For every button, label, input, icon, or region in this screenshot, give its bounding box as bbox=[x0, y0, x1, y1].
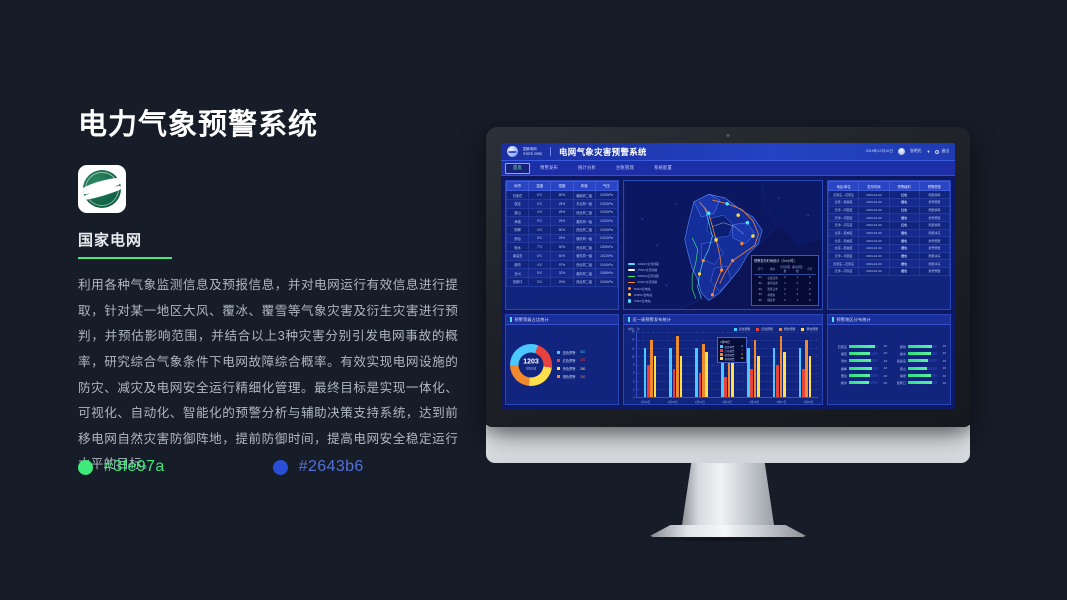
list-item[interactable]: 石家庄48 bbox=[832, 344, 887, 349]
bar bbox=[695, 348, 698, 397]
bar bbox=[702, 344, 705, 397]
table-cell: 保定市 bbox=[766, 297, 778, 303]
bar-plot: 0246810121416 3月05日 蓝色预警12红色预警7橙色预警14黄色预… bbox=[628, 332, 818, 398]
map-overlay-table: 预警发布时间统计（7m小时） 序号地市大风预警数覆冰预警数合计 01石家庄市21… bbox=[751, 255, 819, 306]
table-cell: 红色 bbox=[889, 191, 919, 199]
project-description: 利用各种气象监测信息及预报信息，并对电网运行有效信息进行提取，针对某一地区大风、… bbox=[78, 273, 458, 478]
legend-line-icon bbox=[628, 263, 635, 264]
table-row[interactable]: 唐山4℃49%西北风二级1015hPa bbox=[507, 208, 618, 217]
bar-group[interactable] bbox=[695, 332, 708, 397]
bar bbox=[680, 356, 683, 397]
table-row[interactable]: 北京—西城区2019-10-03橙色暴雪预警 bbox=[829, 245, 950, 253]
table-cell: 2019-10-03 bbox=[859, 245, 889, 253]
region-name: 衡水 bbox=[832, 380, 847, 385]
swatch-dot-icon bbox=[273, 460, 288, 475]
legend-line-icon bbox=[628, 282, 635, 283]
legend-item[interactable]: 蓝色预警310 bbox=[557, 350, 585, 355]
table-cell: 暴雪预警 bbox=[919, 198, 949, 206]
region-name: 廊坊 bbox=[891, 344, 906, 349]
column-header: 地区/单位 bbox=[829, 182, 859, 191]
table-cell: 2019-10-03 bbox=[859, 260, 889, 268]
user-name[interactable]: 张明光 bbox=[910, 149, 921, 154]
table-cell: 橙色 bbox=[889, 252, 919, 260]
grid-logo-text: 国家电网 STATE GRID bbox=[523, 147, 542, 155]
table-cell: 20% bbox=[551, 278, 573, 287]
table-cell: 1 bbox=[791, 297, 803, 303]
table-cell: 橙色 bbox=[889, 245, 919, 253]
list-item[interactable]: 衡水48 bbox=[891, 351, 946, 356]
table-row[interactable]: 邯郸4℃60%西北风二级1013hPa bbox=[507, 225, 618, 234]
avatar[interactable] bbox=[898, 148, 905, 155]
state-grid-logo-icon bbox=[78, 165, 126, 213]
x-tick-label: 3月07日 bbox=[776, 400, 786, 404]
legend-item: 500kV交流线路 bbox=[628, 280, 659, 284]
donut-total-value: 1203 bbox=[523, 359, 539, 366]
progress-bar bbox=[849, 345, 878, 348]
bar bbox=[754, 340, 757, 397]
table-row[interactable]: 秦皇岛6℃60%偏东风一级1011hPa bbox=[507, 252, 618, 261]
table-row[interactable]: 天津—河东区2019-10-03红色局部暴雨 bbox=[829, 221, 950, 229]
progress-bar bbox=[908, 345, 937, 348]
tooltip-swatch-icon bbox=[720, 357, 722, 359]
tooltip-swatch-icon bbox=[720, 353, 722, 355]
table-cell: 60% bbox=[551, 225, 573, 234]
table-row[interactable]: 天津—河西区2019-10-03橙色局部冰冻 bbox=[829, 252, 950, 260]
monitor-chin bbox=[486, 425, 970, 463]
donut-total-label: 预警总数 bbox=[526, 367, 536, 371]
table-cell: 60% bbox=[551, 191, 573, 200]
table-row[interactable]: 石家庄6℃60%偏南风二级1013hPa bbox=[507, 191, 618, 200]
table-cell: 1011hPa bbox=[595, 252, 617, 261]
legend-swatch-icon bbox=[734, 328, 737, 331]
table-cell: 60% bbox=[551, 252, 573, 261]
table-cell: 邢台 bbox=[507, 234, 529, 243]
dashboard-title: 电网气象灾害预警系统 bbox=[559, 146, 647, 158]
table-cell: 7℃ bbox=[529, 243, 551, 252]
table-row[interactable]: 邢台8℃25%偏东风一级1012hPa bbox=[507, 234, 618, 243]
list-item[interactable]: 承德48 bbox=[891, 373, 946, 378]
region-name: 承德 bbox=[891, 373, 906, 378]
table-cell: 4℃ bbox=[529, 225, 551, 234]
table-cell: 西北风二级 bbox=[573, 260, 595, 269]
panel-title: 预警等级占比统计 bbox=[506, 315, 618, 325]
legend-swatch-icon bbox=[557, 367, 560, 370]
bar bbox=[721, 360, 724, 397]
progress-bar bbox=[908, 381, 937, 384]
monitor-stand-base bbox=[648, 525, 808, 537]
legend-item[interactable]: 黄色预警250 bbox=[557, 366, 585, 371]
region-value: 48 bbox=[939, 359, 946, 363]
table-cell: 2019-10-03 bbox=[859, 237, 889, 245]
legend-item[interactable]: 黄色预警 bbox=[801, 327, 818, 331]
table-header-row: 地区/单位发布时间预警级别预警类型 bbox=[829, 182, 950, 191]
dashboard-screen: 国家电网 STATE GRID 电网气象灾害预警系统 2019年12月10日 张… bbox=[501, 143, 955, 409]
y-tick-label: 12 bbox=[632, 347, 635, 350]
table-cell: 局部冰冻 bbox=[919, 260, 949, 268]
legend-item[interactable]: 红色预警 bbox=[756, 327, 773, 331]
table-cell: 橙色 bbox=[889, 268, 919, 276]
bar bbox=[669, 348, 672, 397]
donut-center: 1203 预警总数 bbox=[519, 352, 544, 377]
map-legend: 1000kV交流线路 750kV交流线路 ±800kV直流线路 500kV交流线… bbox=[628, 262, 659, 303]
region-name: 保定 bbox=[832, 351, 847, 356]
bar bbox=[773, 348, 776, 397]
table-cell: 西北风二级 bbox=[573, 208, 595, 217]
legend-item: ±800kV直流线路 bbox=[628, 274, 659, 278]
legend-value: 220 bbox=[580, 358, 585, 362]
table-cell: 廊坊 bbox=[507, 260, 529, 269]
bar bbox=[750, 369, 753, 397]
main-nav: 首页 预警发布 统计分析 台账管理 系统配置 bbox=[501, 161, 955, 176]
tooltip-series-name: 黄色预警 bbox=[725, 357, 735, 361]
bar bbox=[809, 356, 812, 397]
tooltip-series-value: 12 bbox=[737, 345, 744, 348]
header-right-cluster: 2019年12月10日 张明光 ▼ 退出 bbox=[866, 148, 949, 155]
table-cell: 暴雪预警 bbox=[919, 268, 949, 276]
poster-canvas: 电力气象预警系统 国家电网 利用各种气象监测信息及预报信息，并对电网运行有效信息… bbox=[0, 0, 1067, 600]
chevron-down-icon[interactable]: ▼ bbox=[926, 149, 930, 154]
x-tick-label: 3月05日 bbox=[722, 400, 732, 404]
legend-line-icon bbox=[628, 276, 635, 277]
legend-dot-icon bbox=[628, 299, 631, 302]
region-value: 48 bbox=[880, 359, 887, 363]
legend-swatch-icon bbox=[801, 328, 804, 331]
legend-item[interactable]: 蓝色预警 bbox=[734, 327, 751, 331]
table-cell: 05 bbox=[754, 297, 766, 303]
table-cell: 东北风一级 bbox=[573, 199, 595, 208]
y-tick-label: 16 bbox=[632, 331, 635, 334]
color-swatch-primary: #3fe97a bbox=[78, 458, 165, 476]
region-value: 48 bbox=[939, 351, 946, 355]
legend-value: 310 bbox=[580, 350, 585, 354]
table-cell: 橙色 bbox=[889, 198, 919, 206]
table-cell: 局部暴雨 bbox=[919, 191, 949, 199]
legend-item: 1000kV交流线路 bbox=[628, 262, 659, 266]
swatch-dot-icon bbox=[78, 460, 93, 475]
logout-button[interactable]: 退出 bbox=[935, 149, 949, 154]
table-cell: 1016hPa bbox=[595, 278, 617, 287]
table-row[interactable]: 05保定市213 bbox=[754, 297, 816, 303]
y-tick-label: 4 bbox=[633, 380, 634, 383]
table-cell: 偏东风一级 bbox=[573, 234, 595, 243]
region-name: 张家口 bbox=[891, 380, 906, 385]
table-cell: 25% bbox=[551, 199, 573, 208]
bar-group[interactable] bbox=[799, 332, 812, 397]
legend-swatch-icon bbox=[557, 351, 560, 354]
table-cell: 天津—河西区 bbox=[829, 206, 859, 214]
chart-tooltip: 3月05日 蓝色预警12红色预警7橙色预警14黄色预警10 bbox=[717, 337, 747, 363]
region-name: 邢台 bbox=[832, 373, 847, 378]
list-item[interactable]: 秦皇岛48 bbox=[891, 358, 946, 363]
table-cell: 9℃ bbox=[529, 217, 551, 226]
table-cell: 暴雪预警 bbox=[919, 245, 949, 253]
progress-bar bbox=[849, 367, 878, 370]
table-cell: 北京—西城区 bbox=[829, 237, 859, 245]
plot-area[interactable]: 3月05日 蓝色预警12红色预警7橙色预警14黄色预警10 bbox=[636, 332, 818, 398]
table-row[interactable]: 北京—西城区2019-10-03橙色局部冰冻 bbox=[829, 229, 950, 237]
legend-label: 黄色预警 bbox=[563, 366, 576, 371]
legend-label: 红色预警 bbox=[563, 358, 576, 363]
tooltip-swatch-icon bbox=[720, 345, 722, 347]
table-cell: 6℃ bbox=[529, 252, 551, 261]
table-cell: 保定 bbox=[507, 199, 529, 208]
legend-swatch-icon bbox=[756, 328, 759, 331]
legend-label: 橙色预警 bbox=[784, 327, 796, 331]
table-row[interactable]: 石家庄—石家庄2019-10-03橙色局部冰冻 bbox=[829, 260, 950, 268]
table-cell: 1009hPa bbox=[595, 243, 617, 252]
table-cell: 25% bbox=[551, 217, 573, 226]
tab-system-config[interactable]: 系统配置 bbox=[644, 163, 682, 174]
y-tick-label: 14 bbox=[632, 339, 635, 342]
tab-ledger[interactable]: 台账管理 bbox=[606, 163, 644, 174]
list-item[interactable]: 张家口48 bbox=[891, 380, 946, 385]
bar bbox=[776, 365, 779, 398]
alerts-table: 地区/单位发布时间预警级别预警类型 石家庄—石家庄2019-10-03红色局部暴… bbox=[828, 181, 950, 276]
legend-swatch-icon bbox=[557, 359, 560, 362]
legend-label: 红色预警 bbox=[761, 327, 773, 331]
bar bbox=[731, 360, 734, 397]
table-row[interactable]: 天津—河西区2019-10-03橙色暴雪预警 bbox=[829, 214, 950, 222]
table-cell: 唐山 bbox=[507, 208, 529, 217]
table-cell: 沧州 bbox=[507, 269, 529, 278]
table-cell: 暴雪预警 bbox=[919, 237, 949, 245]
table-cell: 邯郸 bbox=[507, 225, 529, 234]
legend-item: 750kV交流线路 bbox=[628, 268, 659, 272]
table-cell: 橙色 bbox=[889, 229, 919, 237]
table-row[interactable]: 廊坊4℃97%西北风二级1014hPa bbox=[507, 260, 618, 269]
dashboard-body: 地市温度湿度风速气压 石家庄6℃60%偏南风二级1013hPa保定5℃25%东北… bbox=[501, 176, 955, 409]
table-cell: 1010hPa bbox=[595, 217, 617, 226]
table-cell: 3℃ bbox=[529, 278, 551, 287]
table-cell: 秦皇岛 bbox=[507, 252, 529, 261]
table-header-row: 序号地市大风预警数覆冰预警数合计 bbox=[754, 264, 816, 274]
table-cell: 橙色 bbox=[889, 237, 919, 245]
dashboard-bottom-row: 预警等级占比统计 1203 预警总数 蓝色预警310红色预警220黄色预警250… bbox=[505, 314, 951, 405]
bar bbox=[650, 340, 653, 397]
table-cell: 西北风二级 bbox=[573, 225, 595, 234]
x-tick-label: 3月02日 bbox=[641, 400, 651, 404]
table-cell: 4℃ bbox=[529, 260, 551, 269]
table-cell: 偏东风一级 bbox=[573, 252, 595, 261]
list-item[interactable]: 沧州48 bbox=[832, 358, 887, 363]
legend-label: 橙色预警 bbox=[563, 374, 576, 379]
tab-statistics[interactable]: 统计分析 bbox=[568, 163, 606, 174]
bar bbox=[676, 336, 679, 397]
x-axis-labels: 3月02日3月03日3月04日3月05日3月06日3月07日3月08日 bbox=[632, 400, 822, 404]
progress-bar bbox=[908, 359, 937, 362]
table-cell: 1012hPa bbox=[595, 234, 617, 243]
list-item[interactable]: 唐山48 bbox=[891, 366, 946, 371]
table-cell: 局部暴雨 bbox=[919, 221, 949, 229]
tab-home[interactable]: 首页 bbox=[505, 163, 530, 174]
list-item[interactable]: 廊坊48 bbox=[891, 344, 946, 349]
page-title: 电力气象预警系统 bbox=[78, 108, 458, 143]
table-cell: 97% bbox=[551, 260, 573, 269]
progress-bar bbox=[908, 352, 937, 355]
donut-legend: 蓝色预警310红色预警220黄色预警250橙色预警240 bbox=[557, 350, 585, 379]
list-item[interactable]: 邯郸48 bbox=[832, 366, 887, 371]
table-row[interactable]: 天津—河东区2019-10-03橙色暴雪预警 bbox=[829, 268, 950, 276]
grid-map-panel[interactable]: 1000kV交流线路 750kV交流线路 ±800kV直流线路 500kV交流线… bbox=[623, 180, 823, 310]
table-cell: 橙色 bbox=[889, 214, 919, 222]
bar bbox=[654, 356, 657, 397]
list-item[interactable]: 衡水48 bbox=[832, 380, 887, 385]
color-swatch-secondary: #2643b6 bbox=[273, 458, 364, 476]
bar-group[interactable] bbox=[747, 332, 760, 397]
y-axis: 0246810121416 bbox=[628, 332, 636, 398]
table-cell: 1014hPa bbox=[595, 260, 617, 269]
table-cell: 局部冰冻 bbox=[919, 252, 949, 260]
legend-item[interactable]: 橙色预警 bbox=[779, 327, 796, 331]
swatch-hex-label: #2643b6 bbox=[299, 458, 364, 476]
donut-chart[interactable]: 1203 预警总数 bbox=[510, 344, 552, 386]
list-item[interactable]: 邢台48 bbox=[832, 373, 887, 378]
bar-group[interactable] bbox=[669, 332, 682, 397]
column-header: 湿度 bbox=[551, 182, 573, 191]
table-cell: 2019-10-03 bbox=[859, 198, 889, 206]
table-cell: 2 bbox=[779, 297, 791, 303]
bar bbox=[724, 377, 727, 397]
bar bbox=[780, 336, 783, 397]
region-name: 衡水 bbox=[891, 351, 906, 356]
table-cell: 衡水 bbox=[507, 243, 529, 252]
bar bbox=[802, 369, 805, 397]
table-row[interactable]: 北京—西城区2019-10-03橙色暴雪预警 bbox=[829, 198, 950, 206]
weather-table-panel: 地市温度湿度风速气压 石家庄6℃60%偏南风二级1013hPa保定5℃25%东北… bbox=[505, 180, 619, 310]
region-name: 邯郸 bbox=[832, 366, 847, 371]
region-value: 48 bbox=[939, 381, 946, 385]
table-cell: 2019-10-03 bbox=[859, 214, 889, 222]
brand-underline-divider bbox=[78, 257, 172, 260]
tooltip-title: 3月05日 bbox=[720, 340, 743, 344]
table-cell: 承德 bbox=[507, 217, 529, 226]
region-value: 48 bbox=[939, 344, 946, 348]
table-cell: 1008hPa bbox=[595, 269, 617, 278]
table-row[interactable]: 天津—河西区2019-10-03红色局部暴雨 bbox=[829, 206, 950, 214]
table-cell: 暴雪预警 bbox=[919, 214, 949, 222]
alert-level-donut-panel: 预警等级占比统计 1203 预警总数 蓝色预警310红色预警220黄色预警250… bbox=[505, 314, 619, 405]
monitor-mockup: 国家电网 STATE GRID 电网气象灾害预警系统 2019年12月10日 张… bbox=[486, 127, 970, 542]
region-name: 唐山 bbox=[891, 366, 906, 371]
bar bbox=[705, 352, 708, 397]
column-header: 地市 bbox=[507, 182, 529, 191]
table-cell: 8℃ bbox=[529, 234, 551, 243]
bar bbox=[805, 340, 808, 397]
legend-label: 蓝色预警 bbox=[739, 327, 751, 331]
table-row[interactable]: 沧州5℃32%偏东风二级1008hPa bbox=[507, 269, 618, 278]
x-tick-label: 3月06日 bbox=[749, 400, 759, 404]
table-row[interactable]: 张家口3℃20%西北风二级1016hPa bbox=[507, 278, 618, 287]
table-cell: 石家庄—石家庄 bbox=[829, 260, 859, 268]
header-date: 2019年12月10日 bbox=[866, 149, 893, 154]
table-cell: 西北风二级 bbox=[573, 278, 595, 287]
bar bbox=[783, 352, 786, 397]
left-info-column: 电力气象预警系统 国家电网 利用各种气象监测信息及预报信息，并对电网运行有效信息… bbox=[78, 108, 458, 478]
stand-shadow bbox=[642, 537, 814, 542]
list-item[interactable]: 保定48 bbox=[832, 351, 887, 356]
table-cell: 2019-10-03 bbox=[859, 191, 889, 199]
webcam-icon bbox=[727, 134, 730, 137]
tooltip-row: 黄色预警10 bbox=[720, 357, 743, 361]
region-distribution-panel: 预警地区分布统计 石家庄48廊坊48保定48衡水48沧州48秦皇岛48邯郸48唐… bbox=[827, 314, 951, 405]
map-table-title: 预警发布时间统计（7m小时） bbox=[754, 258, 816, 263]
tooltip-series-value: 7 bbox=[738, 349, 743, 352]
table-cell: 局部冰冻 bbox=[919, 229, 949, 237]
bar-group[interactable] bbox=[773, 332, 786, 397]
progress-bar bbox=[849, 374, 878, 377]
region-name: 石家庄 bbox=[832, 344, 847, 349]
legend-swatch-icon bbox=[557, 375, 560, 378]
legend-item[interactable]: 橙色预警240 bbox=[557, 374, 585, 379]
table-row[interactable]: 承德9℃25%偏东风一级1010hPa bbox=[507, 217, 618, 226]
table-row[interactable]: 北京—西城区2019-10-03橙色暴雪预警 bbox=[829, 237, 950, 245]
region-bar-list: 石家庄48廊坊48保定48衡水48沧州48秦皇岛48邯郸48唐山48邢台48承德… bbox=[828, 325, 950, 404]
swatch-hex-label: #3fe97a bbox=[104, 458, 165, 476]
column-header: 大风预警数 bbox=[779, 264, 791, 274]
bar bbox=[699, 373, 702, 397]
table-cell: 4℃ bbox=[529, 208, 551, 217]
table-cell: 张家口市 bbox=[766, 286, 778, 292]
panel-title: 近一周预警发布统计 bbox=[624, 315, 822, 325]
bar bbox=[747, 348, 750, 397]
panel-title: 预警地区分布统计 bbox=[828, 315, 950, 325]
table-cell: 天津—河西区 bbox=[829, 252, 859, 260]
table-cell: 北京—西城区 bbox=[829, 198, 859, 206]
table-cell: 49% bbox=[551, 208, 573, 217]
bars-header: 单位：次 蓝色预警红色预警橙色预警黄色预警 bbox=[624, 325, 822, 331]
header-divider bbox=[550, 147, 551, 156]
legend-dot-icon bbox=[628, 287, 631, 290]
bar-group[interactable] bbox=[644, 332, 657, 397]
table-cell: 25% bbox=[551, 234, 573, 243]
y-tick-label: 8 bbox=[633, 364, 634, 367]
legend-value: 250 bbox=[580, 367, 585, 371]
donut-chart-area: 1203 预警总数 蓝色预警310红色预警220黄色预警250橙色预警240 bbox=[506, 325, 618, 404]
y-tick-label: 10 bbox=[632, 355, 635, 358]
region-value: 48 bbox=[880, 381, 887, 385]
table-cell: 1013hPa bbox=[595, 191, 617, 200]
table-cell: 张家口 bbox=[507, 278, 529, 287]
table-row[interactable]: 石家庄—石家庄2019-10-03红色局部暴雨 bbox=[829, 191, 950, 199]
table-row[interactable]: 保定5℃25%东北风一级1012hPa bbox=[507, 199, 618, 208]
progress-bar bbox=[908, 367, 937, 370]
tooltip-series-value: 10 bbox=[737, 357, 744, 360]
gear-icon bbox=[935, 150, 939, 154]
tab-alert-publish[interactable]: 预警发布 bbox=[530, 163, 568, 174]
bar bbox=[799, 348, 802, 397]
column-header: 预警级别 bbox=[889, 182, 919, 191]
table-cell: 北京—西城区 bbox=[829, 245, 859, 253]
progress-bar bbox=[908, 374, 937, 377]
table-row[interactable]: 衡水7℃40%西北风二级1009hPa bbox=[507, 243, 618, 252]
table-cell: 天津—河西区 bbox=[829, 214, 859, 222]
region-name: 沧州 bbox=[832, 358, 847, 363]
region-value: 48 bbox=[880, 366, 887, 370]
bar bbox=[644, 348, 647, 397]
legend-value: 240 bbox=[580, 375, 585, 379]
column-header: 覆冰预警数 bbox=[791, 264, 803, 274]
legend-item: 1000kV变电站 bbox=[628, 293, 659, 297]
x-tick-label: 3月04日 bbox=[695, 400, 705, 404]
grid-logo-icon bbox=[507, 146, 518, 157]
table-cell: 5℃ bbox=[529, 199, 551, 208]
table-cell: 石家庄—石家庄 bbox=[829, 191, 859, 199]
table-cell: 偏南风二级 bbox=[573, 191, 595, 200]
legend-item[interactable]: 红色预警220 bbox=[557, 358, 585, 363]
table-cell: 西北风二级 bbox=[573, 243, 595, 252]
legend-item: 500kV变电站 bbox=[628, 287, 659, 291]
legend-item: 750kV变电站 bbox=[628, 299, 659, 303]
